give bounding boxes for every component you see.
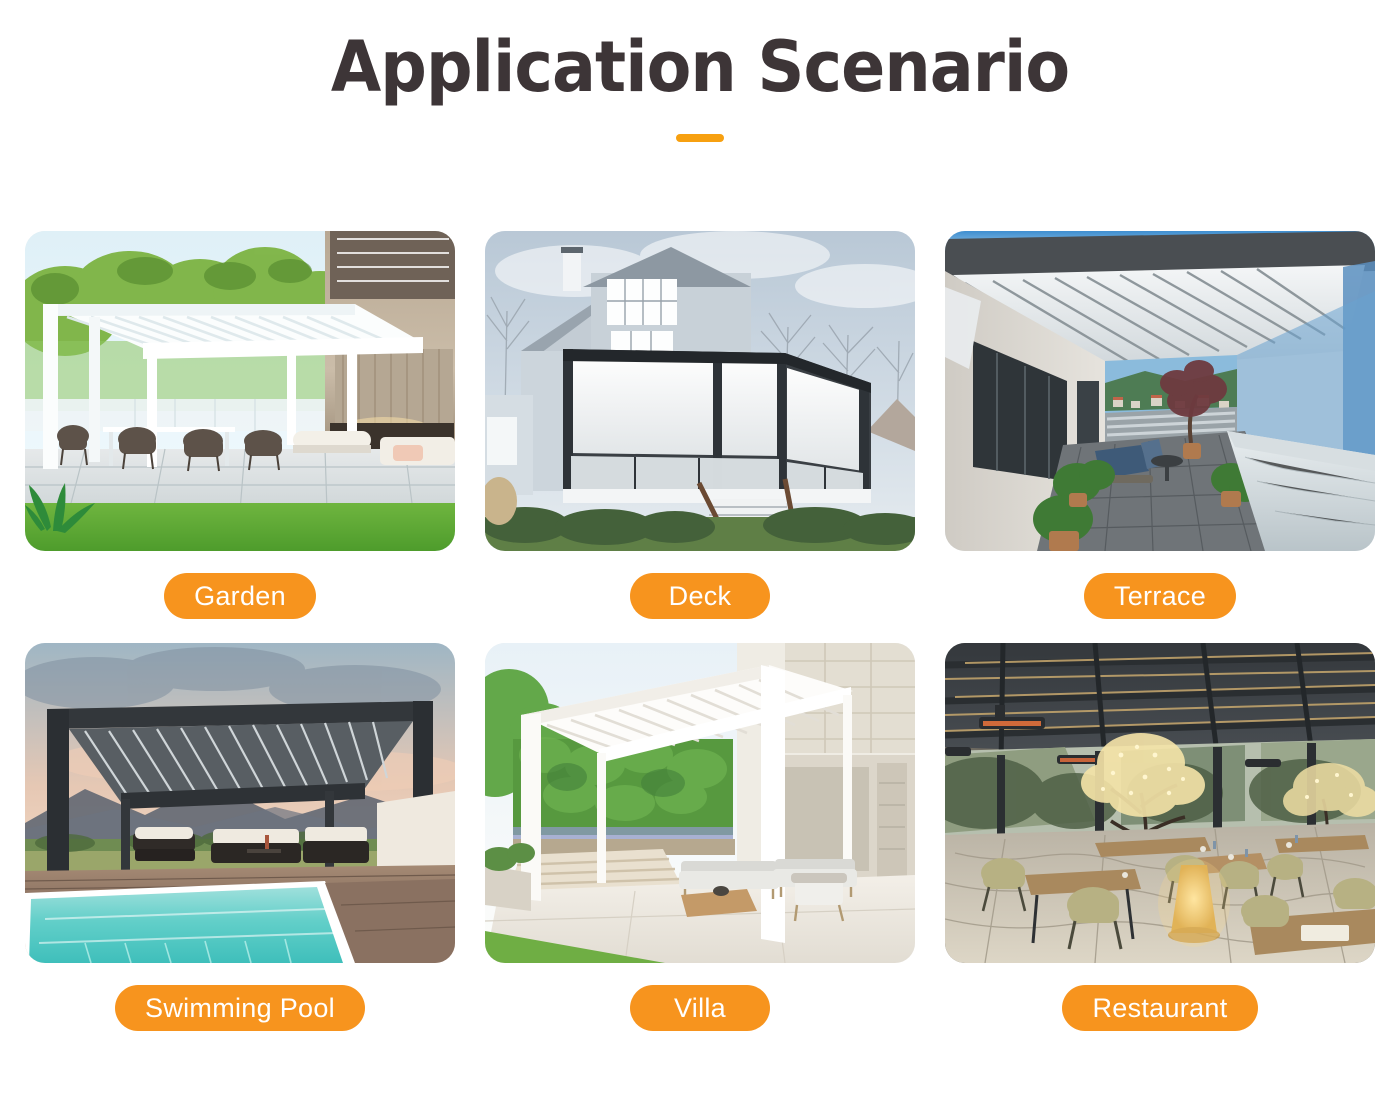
scenario-card-restaurant[interactable]: Restaurant bbox=[945, 643, 1375, 1031]
scenario-card-terrace[interactable]: Terrace bbox=[945, 231, 1375, 619]
scenario-image-villa bbox=[485, 643, 915, 963]
scenario-card-villa[interactable]: Villa bbox=[485, 643, 915, 1031]
application-scenario-page: Application Scenario bbox=[0, 0, 1400, 1116]
scenario-label-deck[interactable]: Deck bbox=[630, 573, 770, 619]
scenario-image-garden bbox=[25, 231, 455, 551]
scenario-image-terrace bbox=[945, 231, 1375, 551]
scenario-card-garden[interactable]: Garden bbox=[25, 231, 455, 619]
scenario-label-restaurant[interactable]: Restaurant bbox=[1062, 985, 1257, 1031]
scenario-label-terrace[interactable]: Terrace bbox=[1084, 573, 1236, 619]
scenario-grid: Garden bbox=[25, 231, 1375, 1031]
scenario-image-swimming-pool bbox=[25, 643, 455, 963]
scenario-card-deck[interactable]: Deck bbox=[485, 231, 915, 619]
title-accent-bar bbox=[676, 134, 724, 142]
scenario-label-garden[interactable]: Garden bbox=[164, 573, 316, 619]
scenario-image-deck bbox=[485, 231, 915, 551]
scenario-card-swimming-pool[interactable]: Swimming Pool bbox=[25, 643, 455, 1031]
page-title: Application Scenario bbox=[49, 30, 1351, 106]
page-header: Application Scenario bbox=[0, 0, 1400, 142]
scenario-label-swimming-pool[interactable]: Swimming Pool bbox=[115, 985, 365, 1031]
scenario-image-restaurant bbox=[945, 643, 1375, 963]
scenario-label-villa[interactable]: Villa bbox=[630, 985, 770, 1031]
